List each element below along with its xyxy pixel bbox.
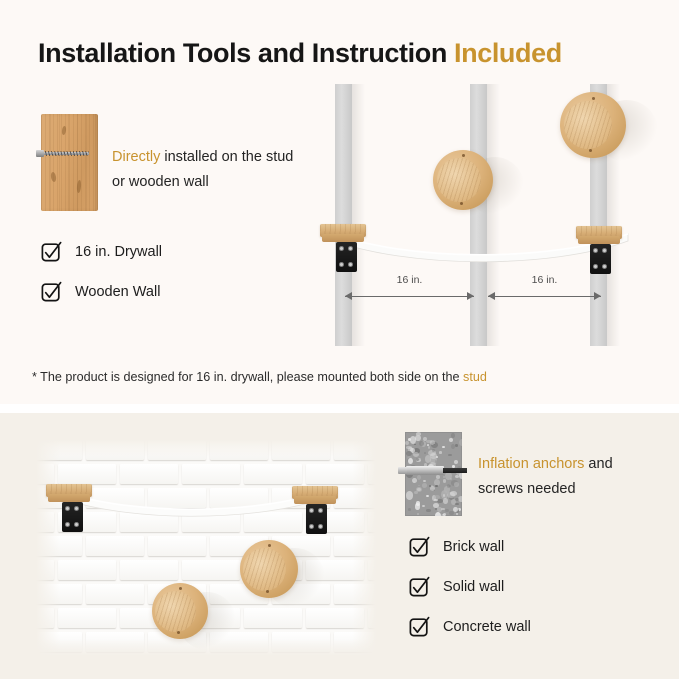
knob-face [564,101,612,149]
concrete-speckle [443,494,446,497]
wood-grain-knot [61,126,66,135]
concrete-speckle [445,509,449,512]
concrete-speckle [451,433,456,438]
concrete-speckle [432,449,435,452]
bracket-mount-plate [336,242,357,272]
concrete-speckle [419,458,421,460]
concrete-speckle [427,444,429,446]
bracket-wood-arm [578,236,620,244]
concrete-speckle [430,440,436,444]
top-panel: Installation Tools and Instruction Inclu… [0,0,679,404]
concrete-speckle [422,505,425,507]
concrete-speckle [408,508,412,511]
plate-screw-hole [339,262,344,267]
checklist-item-label: Brick wall [443,537,504,558]
top-lead-text: Directly installed on the stud or wooden… [112,145,302,195]
plate-screw-hole [602,264,607,269]
arrow-right-icon [467,292,474,300]
plate-screw-hole [593,264,598,269]
screw-threads [43,151,89,156]
footnote-accent: stud [463,370,487,384]
concrete-speckle [442,446,445,448]
concrete-speckle [426,495,429,497]
concrete-speckle [436,475,441,479]
concrete-speckle [453,507,458,512]
bracket-wood-arm [48,494,90,502]
checkbox-checked-icon [409,616,431,638]
bracket-wood-arm [322,234,364,242]
concrete-speckle [424,452,427,454]
checkbox-checked-icon [41,281,63,303]
wood-grain-knot [50,172,57,183]
checkbox-checked-icon [409,536,431,558]
footnote: * The product is designed for 16 in. dry… [32,370,487,384]
concrete-speckle [450,491,457,496]
panel-divider [0,404,679,413]
plate-screw-hole [348,262,353,267]
concrete-speckle [416,432,421,435]
concrete-speckle [439,451,441,454]
arrow-left-icon [345,292,352,300]
concrete-speckle [414,491,418,494]
concrete-speckle [422,483,427,488]
plate-screw-hole [309,508,314,513]
bracket-wood-arm [294,496,336,504]
knob-screw-hole [460,202,463,205]
concrete-speckle [435,485,437,487]
page-title-accent: Included [454,38,562,68]
concrete-speckle [406,451,412,457]
dimension-label: 16 in. [488,274,601,286]
wooden-knob-center [433,150,493,210]
concrete-speckle [448,454,452,456]
plate-screw-hole [74,506,79,511]
wooden-knob-brick-lower [152,583,208,639]
bracket-mount-plate [62,502,83,532]
anchor-bolt-head [398,467,407,474]
checklist-item-label: 16 in. Drywall [75,242,162,263]
checkbox-checked-icon [41,241,63,263]
concrete-speckle [419,441,424,446]
plate-screw-hole [593,248,598,253]
checklist-item-label: Wooden Wall [75,282,160,303]
arrow-left-icon [488,292,495,300]
stud-wall-mounting-diagram: 16 in. 16 in. [300,84,679,346]
plate-screw-hole [318,524,323,529]
bracket-mount-plate [590,244,611,274]
dimension-left: 16 in. [345,287,474,305]
concrete-speckle [456,513,458,515]
concrete-speckle [455,444,458,448]
concrete-speckle [435,508,437,510]
anchor-sleeve [406,466,444,475]
arrow-right-icon [594,292,601,300]
anchor-tip [443,468,467,473]
dimension-label: 16 in. [345,274,474,286]
concrete-speckle [441,514,445,516]
concrete-speckle [454,460,458,464]
shelf-bracket-right-bottom [292,486,342,536]
top-lead-accent: Directly [112,149,160,165]
concrete-speckle [443,498,448,504]
bracket-mount-plate [306,504,327,534]
wood-grain-knot [76,180,81,193]
wood-screw-icon [36,150,90,157]
plate-screw-hole [65,522,70,527]
knob-screw-hole [589,149,592,152]
stud-left [335,84,352,346]
stud-shadow [487,84,500,346]
page-title-main: Installation Tools and Instruction [38,38,454,68]
plate-screw-hole [339,246,344,251]
concrete-speckle [423,480,426,482]
concrete-speckle [455,503,459,505]
checkbox-checked-icon [409,576,431,598]
knob-screw-hole [177,631,180,634]
concrete-speckle [449,438,453,442]
dimension-line [345,296,474,297]
concrete-speckle [428,446,430,449]
concrete-speckle [426,509,430,512]
knob-face [437,158,481,202]
concrete-speckle [451,444,455,449]
knob-screw-hole [592,97,595,100]
concrete-speckle [417,513,419,515]
knob-face [243,548,286,591]
concrete-speckle [413,452,419,457]
shelf-bracket-right [576,226,626,276]
wooden-knob-brick-upper [240,540,298,598]
concrete-speckle [443,479,447,483]
stud-shadow [352,84,365,346]
concrete-speckle [434,499,438,501]
concrete-speckle [459,439,463,447]
bottom-lead-accent: Inflation anchors [478,456,584,472]
knob-screw-hole [179,587,182,590]
shelf-bracket-left [320,224,370,274]
dimension-right: 16 in. [488,287,601,305]
wooden-knob-upper [560,92,626,158]
plate-screw-hole [348,246,353,251]
concrete-speckle [405,441,409,445]
concrete-speckle [430,456,437,464]
checklist-item-label: Solid wall [443,577,504,598]
bottom-lead-text: Inflation anchors and screws needed [478,452,658,502]
concrete-speckle [418,485,420,486]
checklist-item-label: Concrete wall [443,617,531,638]
page-title: Installation Tools and Instruction Inclu… [38,38,562,69]
concrete-speckle [414,444,416,445]
concrete-speckle [406,491,413,499]
inflation-anchor-icon [398,466,468,475]
concrete-speckle [408,458,413,464]
knob-screw-hole [462,154,465,157]
concrete-speckle [417,475,421,480]
plate-screw-hole [65,506,70,511]
knob-screw-hole [266,590,269,593]
infographic-page: Installation Tools and Instruction Inclu… [0,0,679,679]
knob-face [155,591,196,632]
dimension-line [488,296,601,297]
plate-screw-hole [318,508,323,513]
concrete-speckle [416,458,419,461]
shelf-bracket-left-bottom [46,484,96,534]
footnote-main: * The product is designed for 16 in. dry… [32,370,463,384]
concrete-speckle [430,486,435,491]
plate-screw-hole [602,248,607,253]
stud-center [470,84,487,346]
knob-screw-hole [268,544,271,547]
concrete-speckle [454,482,460,487]
plate-screw-hole [74,522,79,527]
wood-board-swatch [41,114,98,211]
screw-head [36,150,44,157]
plate-screw-hole [309,524,314,529]
concrete-speckle [416,501,421,506]
